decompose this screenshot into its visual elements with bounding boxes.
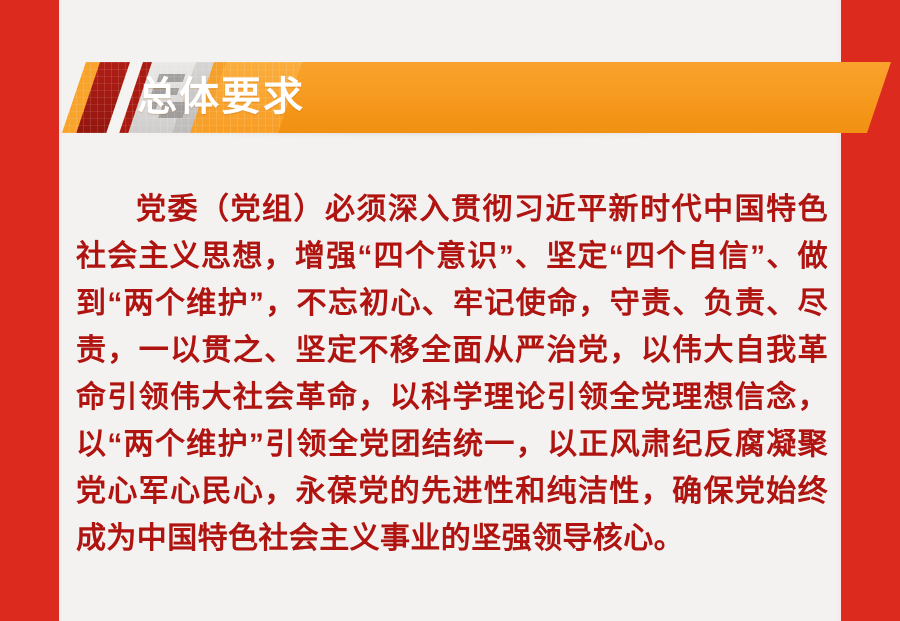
banner-title: 总体要求 <box>137 74 305 120</box>
main-paragraph-block: 党委（党组）必须深入贯彻习近平新时代中国特色社会主义思想，增强“四个意识”、坚定… <box>76 186 828 562</box>
header-banner: 总体要求 <box>0 60 900 136</box>
poster-canvas: 总体要求 党委（党组）必须深入贯彻习近平新时代中国特色社会主义思想，增强“四个意… <box>0 0 900 621</box>
main-paragraph-text: 党委（党组）必须深入贯彻习近平新时代中国特色社会主义思想，增强“四个意识”、坚定… <box>76 186 828 562</box>
